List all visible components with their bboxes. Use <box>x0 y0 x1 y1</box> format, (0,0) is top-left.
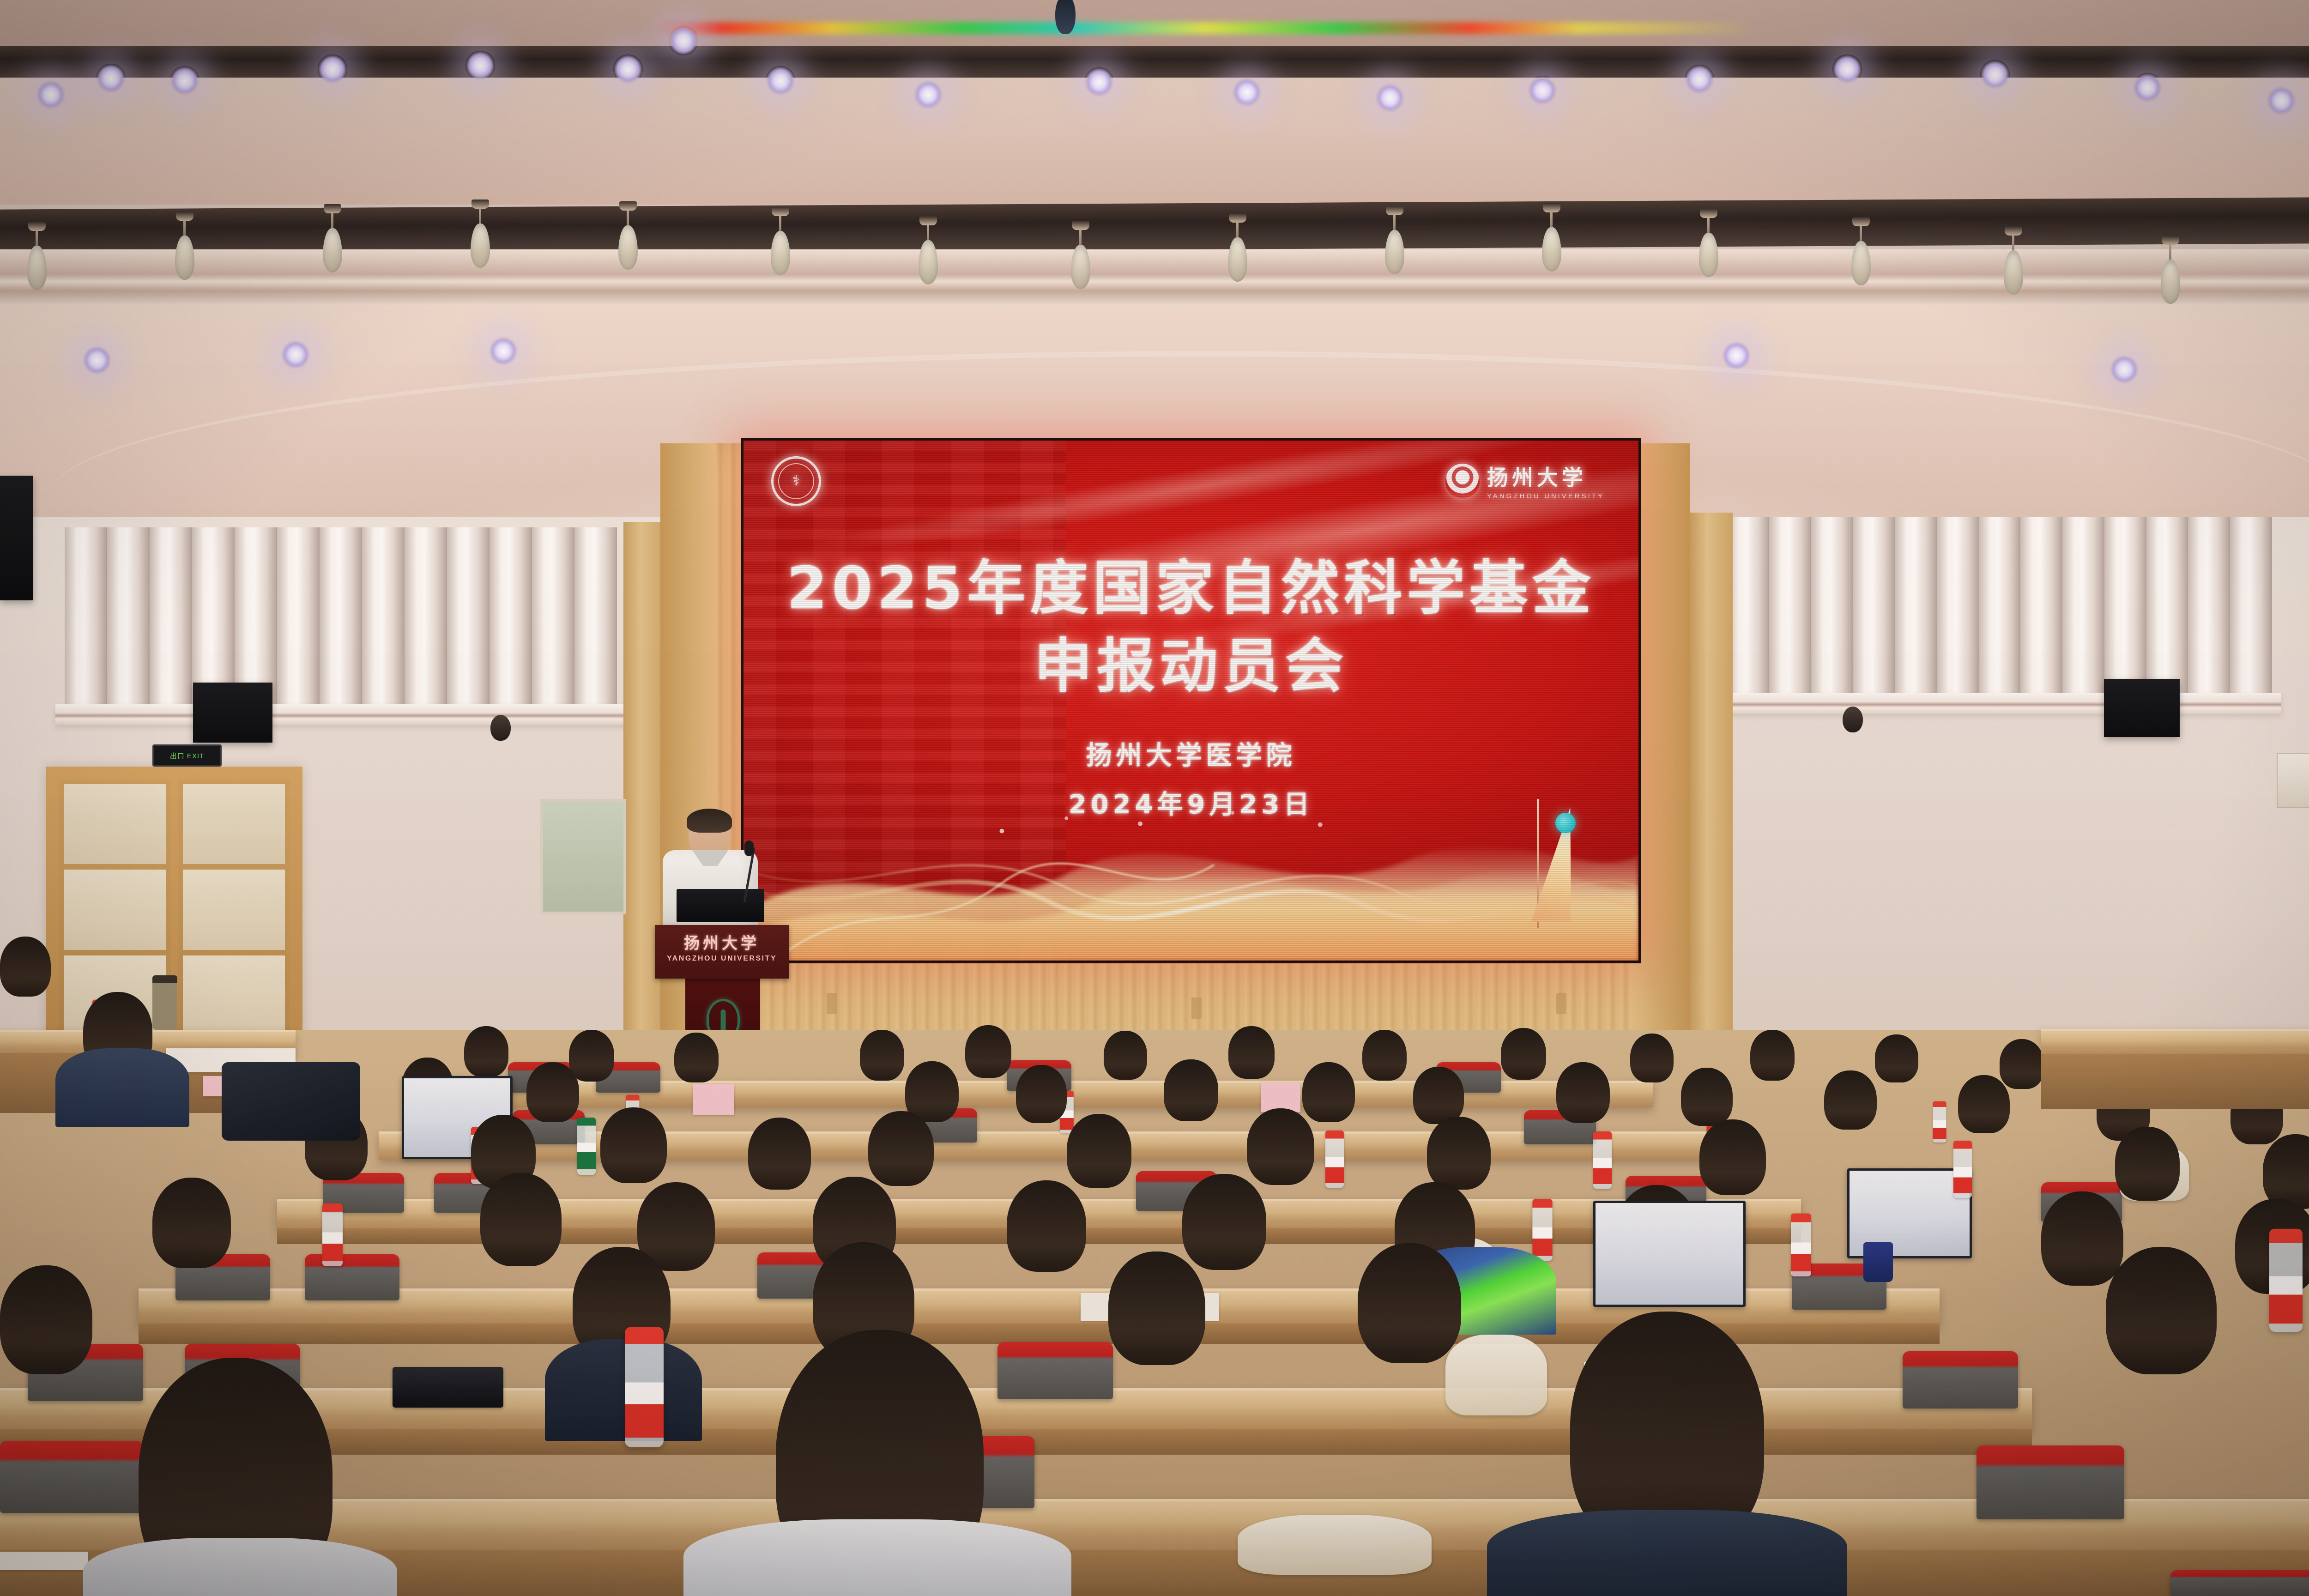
door-pane <box>64 784 166 864</box>
ceiling-downlight-icon <box>2133 73 2162 103</box>
ceiling-pendant-light-icon <box>1071 221 1090 290</box>
pink-paper[interactable] <box>1261 1082 1300 1112</box>
wall-speaker-right <box>2104 679 2180 737</box>
stage-wood-notch-3 <box>1556 993 1566 1014</box>
pendant-cap <box>2162 236 2179 245</box>
pendant-cap <box>2005 226 2022 236</box>
audience-head <box>1875 1034 1918 1082</box>
staff-head <box>0 937 51 997</box>
water-bottle[interactable] <box>1933 1101 1946 1143</box>
door-pane <box>183 870 285 949</box>
audience-head <box>1067 1114 1131 1188</box>
ceiling-pendant-light-icon <box>471 199 490 269</box>
university-name-en: YANGZHOU UNIVERSITY <box>1487 492 1604 500</box>
ceiling-pendant-light-icon <box>27 222 47 291</box>
ceiling-downlight-icon <box>489 336 518 366</box>
door-leaf-right[interactable] <box>178 780 290 1040</box>
podium-name-cn: 扬州大学 <box>655 931 789 953</box>
audience-head <box>1007 1180 1086 1272</box>
pendant-cap <box>619 201 637 211</box>
ceiling-downlight-icon <box>1084 67 1114 97</box>
ceiling-downlight-icon <box>1685 65 1714 94</box>
paper-sheet[interactable] <box>0 1552 88 1570</box>
door-pane <box>183 955 285 1035</box>
ceiling-pendant-light-icon <box>771 207 790 276</box>
snack-bag-foreground[interactable] <box>1238 1515 1432 1575</box>
ceiling-pendant-light-icon <box>2004 226 2023 296</box>
audience-head <box>2041 1191 2123 1286</box>
university-name-cn: 扬州大学 <box>1487 461 1604 491</box>
laptop-screen[interactable] <box>1593 1201 1746 1307</box>
audience-head <box>1427 1117 1491 1190</box>
water-bottle[interactable] <box>1532 1199 1552 1261</box>
audience-head <box>965 1025 1011 1078</box>
ceiling-downlight-icon <box>913 80 943 109</box>
presenter-hair <box>687 809 732 833</box>
wall-speaker-left <box>193 683 272 743</box>
audience-head <box>1164 1059 1218 1121</box>
ceiling-cornice-band <box>0 249 2309 305</box>
pendant-bulb <box>1385 230 1404 274</box>
audience-head <box>1108 1251 1205 1365</box>
ceiling-downlight-icon <box>96 64 126 93</box>
led-screen-surface: ⚕ 扬州大学 YANGZHOU UNIVERSITY 2025年度国家自然科学基… <box>743 441 1638 961</box>
staff-shoulders <box>55 1048 189 1127</box>
seal-caduceus-icon: ⚕ <box>778 463 814 499</box>
backpack[interactable] <box>222 1062 360 1141</box>
ceiling-downlight-icon <box>613 54 643 84</box>
water-bottle[interactable] <box>1593 1131 1612 1189</box>
pendant-cap <box>1072 221 1089 230</box>
pendant-cap <box>28 222 46 231</box>
thermos-flask[interactable] <box>152 975 177 1030</box>
pendant-bulb <box>471 224 490 268</box>
audience-head <box>1362 1030 1407 1081</box>
ceiling-pendant-light-icon <box>1699 209 1718 278</box>
pink-paper[interactable] <box>693 1084 734 1115</box>
acoustic-panel-left <box>65 527 623 712</box>
pendant-bulb <box>1851 241 1871 285</box>
audience-head <box>1824 1070 1877 1130</box>
dome-spotlight-right-icon <box>1843 707 1863 732</box>
audience-head <box>1630 1034 1674 1082</box>
led-display-screen[interactable]: ⚕ 扬州大学 YANGZHOU UNIVERSITY 2025年度国家自然科学基… <box>741 438 1641 963</box>
ceiling-downlight-icon <box>281 340 310 369</box>
wall-panel-right <box>2277 753 2309 808</box>
audience-head <box>600 1107 667 1183</box>
ceiling-pendant-light-icon <box>1542 203 1561 272</box>
wall-speaker-far-left <box>0 476 33 600</box>
ceiling-pendant-light-icon <box>175 212 194 281</box>
screen-subtitle-date: 2024年9月23日 <box>743 780 1638 829</box>
audience-head <box>1750 1030 1795 1081</box>
ceiling-pendant-light-icon <box>2161 236 2180 305</box>
audience-head <box>868 1111 934 1186</box>
audience-head <box>152 1178 231 1268</box>
ceiling-downlight-icon <box>82 345 112 375</box>
microphone-icon <box>744 840 754 856</box>
pendant-cap <box>176 212 193 221</box>
water-bottle[interactable] <box>322 1203 343 1266</box>
pendant-bulb <box>618 225 638 270</box>
audience-head <box>1104 1031 1147 1080</box>
audience-head <box>464 1026 508 1077</box>
seat[interactable] <box>305 1254 399 1300</box>
ceiling-pendant-light-icon <box>1385 206 1404 275</box>
audience-head <box>1016 1065 1067 1123</box>
pendant-cap <box>1700 209 1717 218</box>
water-bottle[interactable] <box>1791 1214 1811 1276</box>
acoustic-panel-right <box>1727 517 2272 702</box>
pendant-bulb <box>919 240 938 284</box>
audience-head <box>1358 1243 1461 1363</box>
screen-title: 2025年度国家自然科学基金 申报动员会 <box>743 550 1638 706</box>
audience-head <box>748 1118 811 1190</box>
audience-head <box>0 1265 92 1374</box>
pendant-bulb <box>175 236 194 280</box>
water-bottle-green[interactable] <box>577 1118 596 1175</box>
notice-board <box>540 799 626 914</box>
ceiling-pendant-light-icon <box>1228 213 1247 283</box>
audience-shoulders-foreground <box>1487 1510 1847 1596</box>
ceiling-pendant-light-icon <box>919 216 938 285</box>
seat[interactable] <box>0 1441 143 1513</box>
water-bottle[interactable] <box>2269 1229 2303 1332</box>
ceiling-downlight-icon <box>1375 83 1405 113</box>
door-pane <box>64 870 166 949</box>
beverage-cup[interactable] <box>1863 1242 1893 1282</box>
pendant-bulb <box>27 246 47 290</box>
audience-head <box>1302 1062 1355 1122</box>
medical-college-seal-icon: ⚕ <box>771 456 821 506</box>
ceiling-downlight-icon <box>766 66 795 96</box>
dome-spotlight-left-icon <box>490 715 511 741</box>
pendant-cap <box>1543 203 1560 212</box>
ceiling-pendant-light-icon <box>1851 217 1871 286</box>
seat[interactable] <box>997 1342 1113 1399</box>
pendant-bulb <box>1228 237 1247 282</box>
pendant-cap <box>919 216 937 225</box>
audience-head <box>1699 1119 1766 1195</box>
screen-title-line-1: 2025年度国家自然科学基金 <box>743 550 1638 628</box>
side-table-right-apron <box>2041 1054 2309 1109</box>
rgb-led-strip-icon <box>656 22 1755 34</box>
ceiling-band-1 <box>0 78 2309 205</box>
pendant-bulb <box>1699 233 1718 277</box>
university-logo: 扬州大学 YANGZHOU UNIVERSITY <box>1445 461 1604 500</box>
audience-head <box>2115 1127 2180 1201</box>
plastic-bag-yellow[interactable] <box>1445 1335 1547 1415</box>
audience-head <box>2000 1039 2044 1089</box>
lecture-hall-photo: ⚕ 扬州大学 YANGZHOU UNIVERSITY 2025年度国家自然科学基… <box>0 0 2309 1596</box>
ceiling-downlight-icon <box>1528 76 1557 105</box>
pendant-cap <box>324 204 341 213</box>
audience-shoulders-foreground <box>83 1538 397 1596</box>
ceiling-downlight-icon <box>170 66 199 96</box>
ceiling-pendant-light-icon <box>618 201 638 271</box>
ceiling-downlight-icon <box>2267 86 2296 115</box>
side-table-right <box>2041 1029 2309 1056</box>
pendant-bulb <box>323 228 342 272</box>
audience-head <box>480 1173 562 1266</box>
ceiling-downlight-icon <box>465 51 495 80</box>
audience-head <box>674 1033 719 1082</box>
stage-wood-notch-2 <box>1191 997 1202 1019</box>
wall-shelf-right <box>1713 693 2281 714</box>
audience-head <box>526 1062 579 1122</box>
ceiling-downlight-icon <box>36 80 66 109</box>
audience-head <box>1182 1174 1266 1270</box>
smartphone[interactable] <box>393 1367 503 1408</box>
ceiling-beam-lower <box>0 197 2309 255</box>
audience-head <box>1501 1028 1546 1080</box>
ceiling-pendant-light-icon <box>323 204 342 273</box>
ceiling-downlight-icon <box>1832 54 1862 84</box>
audience-head <box>1247 1108 1314 1185</box>
stage-wood-notch-1 <box>827 993 837 1014</box>
pendant-cap <box>772 207 789 216</box>
pendant-bulb <box>1071 245 1090 289</box>
podium-name-en: YANGZHOU UNIVERSITY <box>655 955 789 963</box>
audience-head <box>1228 1026 1275 1079</box>
ceiling-downlight-icon <box>2110 355 2139 384</box>
pendant-bulb <box>771 231 790 275</box>
audience-shoulders-foreground <box>683 1519 1071 1596</box>
audience-head <box>1681 1068 1733 1126</box>
ceiling-downlight-icon <box>1980 60 2010 90</box>
audience-head <box>2106 1247 2217 1374</box>
screen-subtitle-org: 扬州大学医学院 <box>743 731 1638 780</box>
audience-head <box>1413 1067 1464 1124</box>
screen-subtitle: 扬州大学医学院 2024年9月23日 <box>743 731 1638 830</box>
pendant-bulb <box>1542 227 1561 272</box>
audience-shoulders <box>545 1339 702 1441</box>
seat[interactable] <box>2170 1570 2309 1596</box>
pendant-bulb <box>2161 260 2180 304</box>
audience-head <box>1556 1062 1610 1123</box>
wall-wood-trim-right <box>1690 513 1733 1058</box>
pendant-cap <box>471 199 489 209</box>
door-pane <box>183 784 285 864</box>
seat[interactable] <box>1977 1445 2124 1519</box>
ceiling-downlight-icon <box>318 54 347 84</box>
seat[interactable] <box>1903 1351 2018 1409</box>
pendant-bulb <box>2004 250 2023 295</box>
ceiling-sensor-icon <box>1055 0 1076 34</box>
water-bottle-foreground[interactable] <box>625 1327 664 1447</box>
wall-shelf-left <box>55 704 633 725</box>
ceiling-downlight-icon <box>669 26 698 55</box>
water-bottle[interactable] <box>1953 1141 1972 1198</box>
pendant-cap <box>1386 206 1403 215</box>
water-bottle[interactable] <box>1325 1130 1344 1188</box>
audience-head <box>860 1030 904 1081</box>
ceiling-downlight-icon <box>1232 78 1262 107</box>
ceiling-downlight-icon <box>1722 341 1751 370</box>
audience-head <box>1958 1075 2010 1133</box>
audience-head <box>569 1030 614 1082</box>
screen-title-line-2: 申报动员会 <box>743 628 1638 706</box>
pendant-cap <box>1229 213 1246 223</box>
university-mark-icon <box>1445 464 1480 498</box>
pendant-cap <box>1852 217 1870 226</box>
exit-sign: 出口 EXIT <box>152 744 222 767</box>
